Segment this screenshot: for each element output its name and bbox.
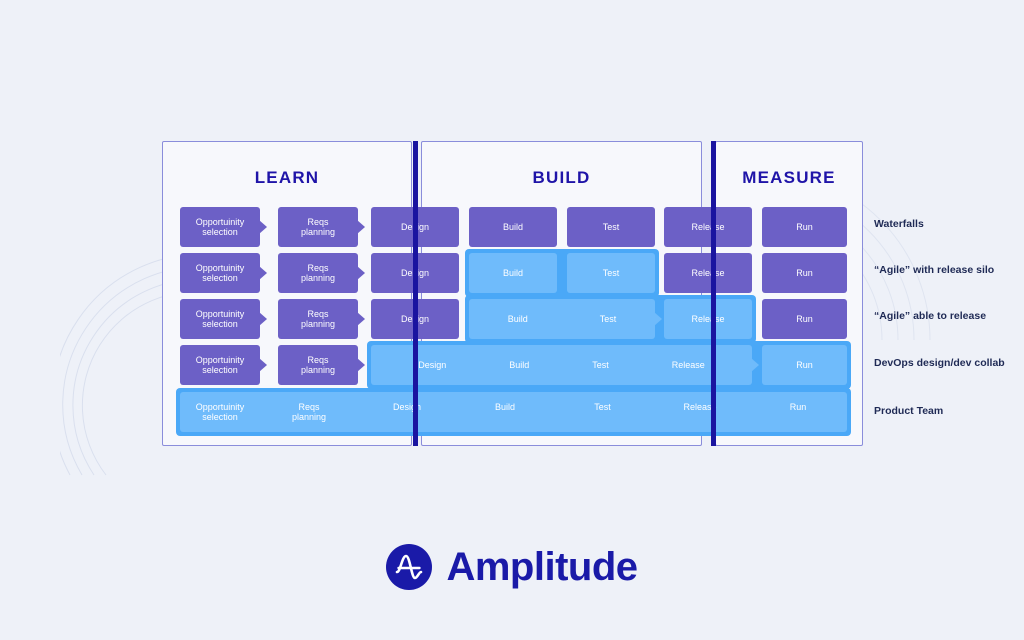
- cell-label-line1: Reqs: [307, 263, 328, 273]
- phase-divider-learn-build: [413, 141, 418, 446]
- diagram-canvas: LEARN BUILD MEASURE Opportuinityselectio…: [0, 0, 1024, 640]
- cell-reqs-planning[interactable]: Reqsplanning: [278, 345, 358, 385]
- cell-label-line2: selection: [202, 319, 238, 329]
- cell-label-design: Design: [358, 402, 456, 423]
- cell-opportunity-selection[interactable]: Opportuinityselection: [180, 253, 260, 293]
- cell-label-design: Design: [418, 360, 446, 370]
- cell-build[interactable]: Build: [469, 207, 557, 247]
- cell-label-line1: Opportuinity: [196, 309, 245, 319]
- amplitude-circle-a-icon: [386, 544, 432, 590]
- cell-opportunity-selection[interactable]: Opportuinityselection: [180, 207, 260, 247]
- cell-label-line1: Reqs: [307, 309, 328, 319]
- cell-label-line1: Opportuinity: [196, 217, 245, 227]
- cell-opportunity-selection[interactable]: Opportuinityselection: [180, 345, 260, 385]
- cell-label-release: Release: [672, 360, 705, 370]
- cell-run[interactable]: Run: [762, 207, 847, 247]
- amplitude-wordmark: Amplitude: [446, 545, 637, 590]
- cell-run[interactable]: Run: [762, 345, 847, 385]
- cell-test[interactable]: Test: [567, 207, 655, 247]
- legend-label-devops-collab: DevOps design/dev collab: [874, 357, 1005, 369]
- legend-label-agile-release-silo: “Agile” with release silo: [874, 264, 994, 276]
- phase-title-build: BUILD: [422, 168, 701, 188]
- cell-label-release: Release: [651, 402, 749, 423]
- cell-label-line2: planning: [301, 273, 335, 283]
- cell-release[interactable]: Release: [664, 253, 752, 293]
- legend-label-waterfalls: Waterfalls: [874, 218, 924, 230]
- cell-label-test: Test: [554, 402, 651, 423]
- legend-label-agile-able-to-release: “Agile” able to release: [874, 310, 986, 322]
- cell-label-reqs: Reqsplanning: [260, 402, 358, 423]
- cell-end-to-end-merged[interactable]: Opportuinityselection Reqsplanning Desig…: [180, 392, 847, 432]
- cell-reqs-planning[interactable]: Reqsplanning: [278, 253, 358, 293]
- cell-build-test-merged[interactable]: Build Test: [469, 299, 655, 339]
- cell-label-line2: planning: [301, 365, 335, 375]
- cell-label-line1: Opportuinity: [196, 263, 245, 273]
- cell-reqs-planning[interactable]: Reqsplanning: [278, 299, 358, 339]
- cell-label-line1: Reqs: [307, 217, 328, 227]
- cell-label-line1: Reqs: [307, 355, 328, 365]
- cell-label-test: Test: [592, 360, 609, 370]
- cell-label-build: Build: [509, 360, 529, 370]
- cell-reqs-planning[interactable]: Reqsplanning: [278, 207, 358, 247]
- cell-test[interactable]: Test: [567, 253, 655, 293]
- cell-label-run: Run: [749, 402, 847, 423]
- cell-label-build: Build: [456, 402, 554, 423]
- cell-label-line2: selection: [202, 273, 238, 283]
- cell-label-line2: selection: [202, 365, 238, 375]
- phase-divider-build-measure: [711, 141, 716, 446]
- phase-title-measure: MEASURE: [716, 168, 862, 188]
- cell-label-line2: planning: [301, 227, 335, 237]
- cell-label-line1: Opportuinity: [196, 355, 245, 365]
- legend-label-product-team: Product Team: [874, 405, 943, 417]
- cell-design-build-test-release-merged[interactable]: Design Build Test Release: [371, 345, 752, 385]
- cell-run[interactable]: Run: [762, 253, 847, 293]
- cell-label-test: Test: [600, 314, 617, 324]
- cell-build[interactable]: Build: [469, 253, 557, 293]
- cell-release[interactable]: Release: [664, 299, 752, 339]
- amplitude-logo: Amplitude: [0, 544, 1024, 590]
- phase-title-learn: LEARN: [163, 168, 411, 188]
- cell-label-opportunity: Opportuinityselection: [180, 402, 260, 423]
- cell-label-build: Build: [508, 314, 528, 324]
- cell-label-line2: planning: [301, 319, 335, 329]
- cell-release[interactable]: Release: [664, 207, 752, 247]
- cell-label-line2: selection: [202, 227, 238, 237]
- cell-run[interactable]: Run: [762, 299, 847, 339]
- cell-opportunity-selection[interactable]: Opportuinityselection: [180, 299, 260, 339]
